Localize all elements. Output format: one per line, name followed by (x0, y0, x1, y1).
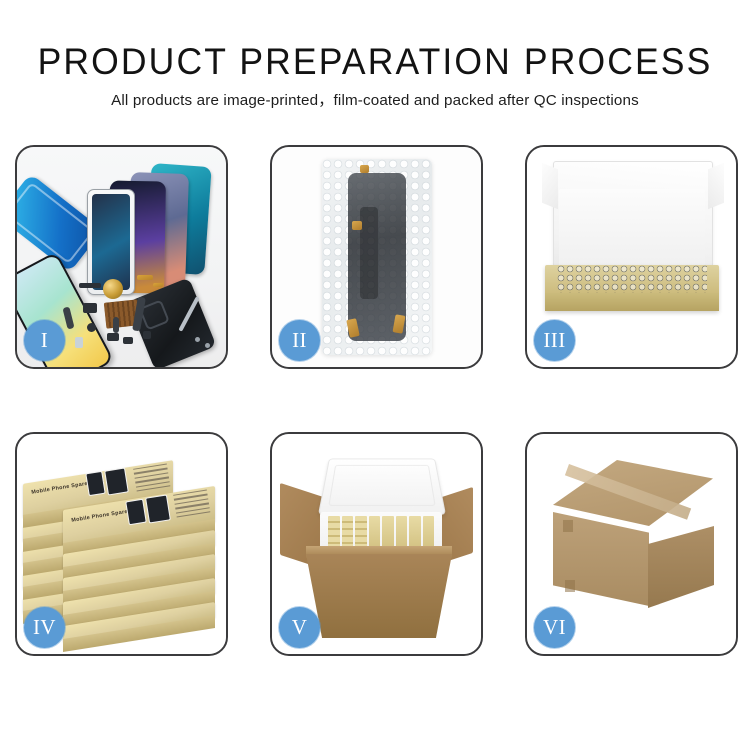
box-screen-thumb-1 (85, 471, 105, 496)
carton-seam-icon-2 (565, 580, 575, 592)
process-step-2[interactable]: II (270, 145, 483, 369)
step-badge-1: I (24, 320, 65, 361)
step-badge-4: IV (24, 607, 65, 648)
process-grid: I II III (15, 145, 737, 680)
tape-tab-icon-2 (352, 221, 362, 230)
kraft-tray-front-icon (545, 293, 719, 311)
chip-icon-5 (123, 337, 133, 344)
bubble-wrap-bag-icon (322, 159, 432, 355)
connector-icon-1 (137, 275, 153, 280)
chip-icon-2 (83, 303, 97, 313)
header: PRODUCT PREPARATION PROCESS All products… (0, 40, 750, 111)
box-screen-thumb-4 (145, 494, 171, 523)
foam-box-lid-icon (318, 459, 446, 515)
box-spec-lines-2 (173, 490, 211, 521)
carton-body-icon (306, 554, 452, 638)
chip-icon-6 (143, 331, 151, 339)
process-step-4[interactable]: Mobile Phone Spare Parts Mobile Phone Sp… (15, 432, 228, 656)
page-subtitle: All products are image-printed，film-coat… (0, 91, 750, 111)
process-step-1[interactable]: I (15, 145, 228, 369)
carton-seam-icon-1 (563, 520, 573, 532)
infographic-page: PRODUCT PREPARATION PROCESS All products… (0, 0, 750, 750)
step-badge-6: VI (534, 607, 575, 648)
process-step-6[interactable]: VI (525, 432, 738, 656)
retail-box-8 (63, 590, 215, 606)
box-screen-thumb-3 (125, 499, 147, 526)
chip-icon-3 (87, 323, 96, 332)
connector-icon-2 (153, 283, 163, 287)
retail-box-9 (63, 614, 215, 630)
step-badge-2: II (279, 320, 320, 361)
step-badge-3: III (534, 320, 575, 361)
box-screen-thumb-2 (104, 468, 129, 496)
foam-sheet-icon (559, 189, 705, 267)
process-step-3[interactable]: III (525, 145, 738, 369)
tape-tab-icon-1 (360, 165, 369, 173)
flex-cable-icon-3 (113, 317, 119, 333)
speaker-coil-icon (103, 279, 123, 299)
step-badge-5: V (279, 607, 320, 648)
bubble-wrap-fill-icon (557, 265, 707, 293)
retail-box-6 (63, 542, 215, 558)
process-step-5[interactable]: V (270, 432, 483, 656)
chip-icon-7 (75, 337, 83, 348)
screw-icon-1 (195, 337, 200, 342)
sealed-carton-side-icon (648, 526, 714, 608)
page-title: PRODUCT PREPARATION PROCESS (15, 40, 735, 84)
chip-icon-4 (107, 333, 119, 341)
retail-box-7 (63, 566, 215, 582)
box-spec-lines-1 (133, 464, 171, 495)
screw-icon-2 (205, 343, 210, 348)
chip-icon-1 (79, 283, 101, 288)
